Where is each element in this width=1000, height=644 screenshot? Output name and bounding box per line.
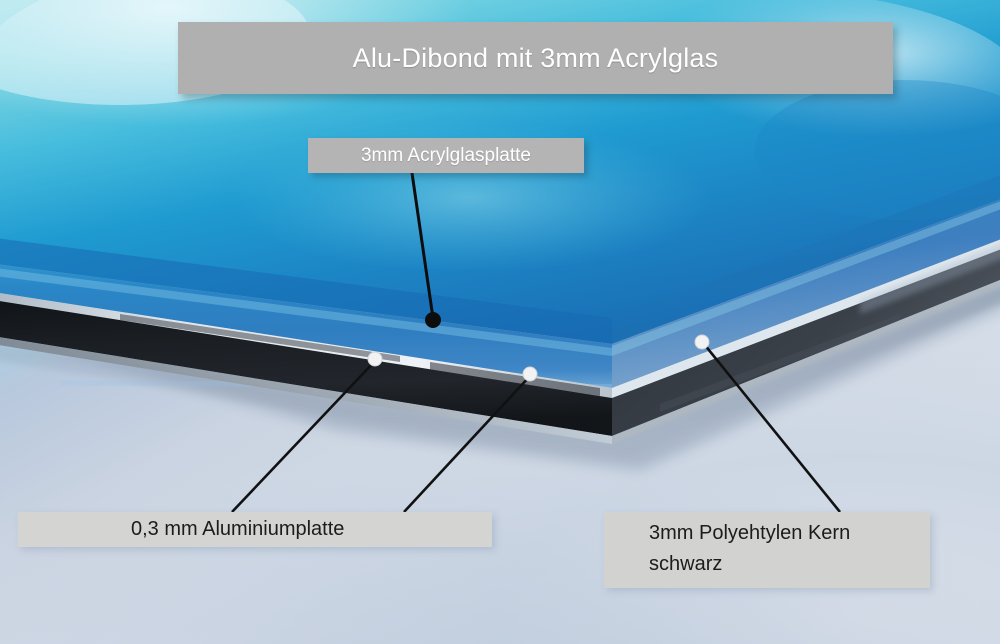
callout-core: 3mm Polyehtylen Kern schwarz <box>604 512 930 588</box>
callout-aluminium-label: 0,3 mm Aluminiumplatte <box>131 512 492 547</box>
callout-core-label: 3mm Polyehtylen Kern schwarz <box>649 518 930 580</box>
title-banner: Alu-Dibond mit 3mm Acrylglas <box>178 22 893 94</box>
product-illustration: Alu-Dibond mit 3mm Acrylglas 3mm Acrylgl… <box>0 0 1000 644</box>
callout-aluminium: 0,3 mm Aluminiumplatte <box>18 512 492 547</box>
title-text: Alu-Dibond mit 3mm Acrylglas <box>178 22 893 94</box>
callout-core-label-line1: 3mm Polyehtylen Kern <box>649 522 850 544</box>
callout-acrylic-label: 3mm Acrylglasplatte <box>308 138 584 173</box>
callout-acrylic: 3mm Acrylglasplatte <box>308 138 584 173</box>
callout-core-label-line2: schwarz <box>649 553 722 575</box>
